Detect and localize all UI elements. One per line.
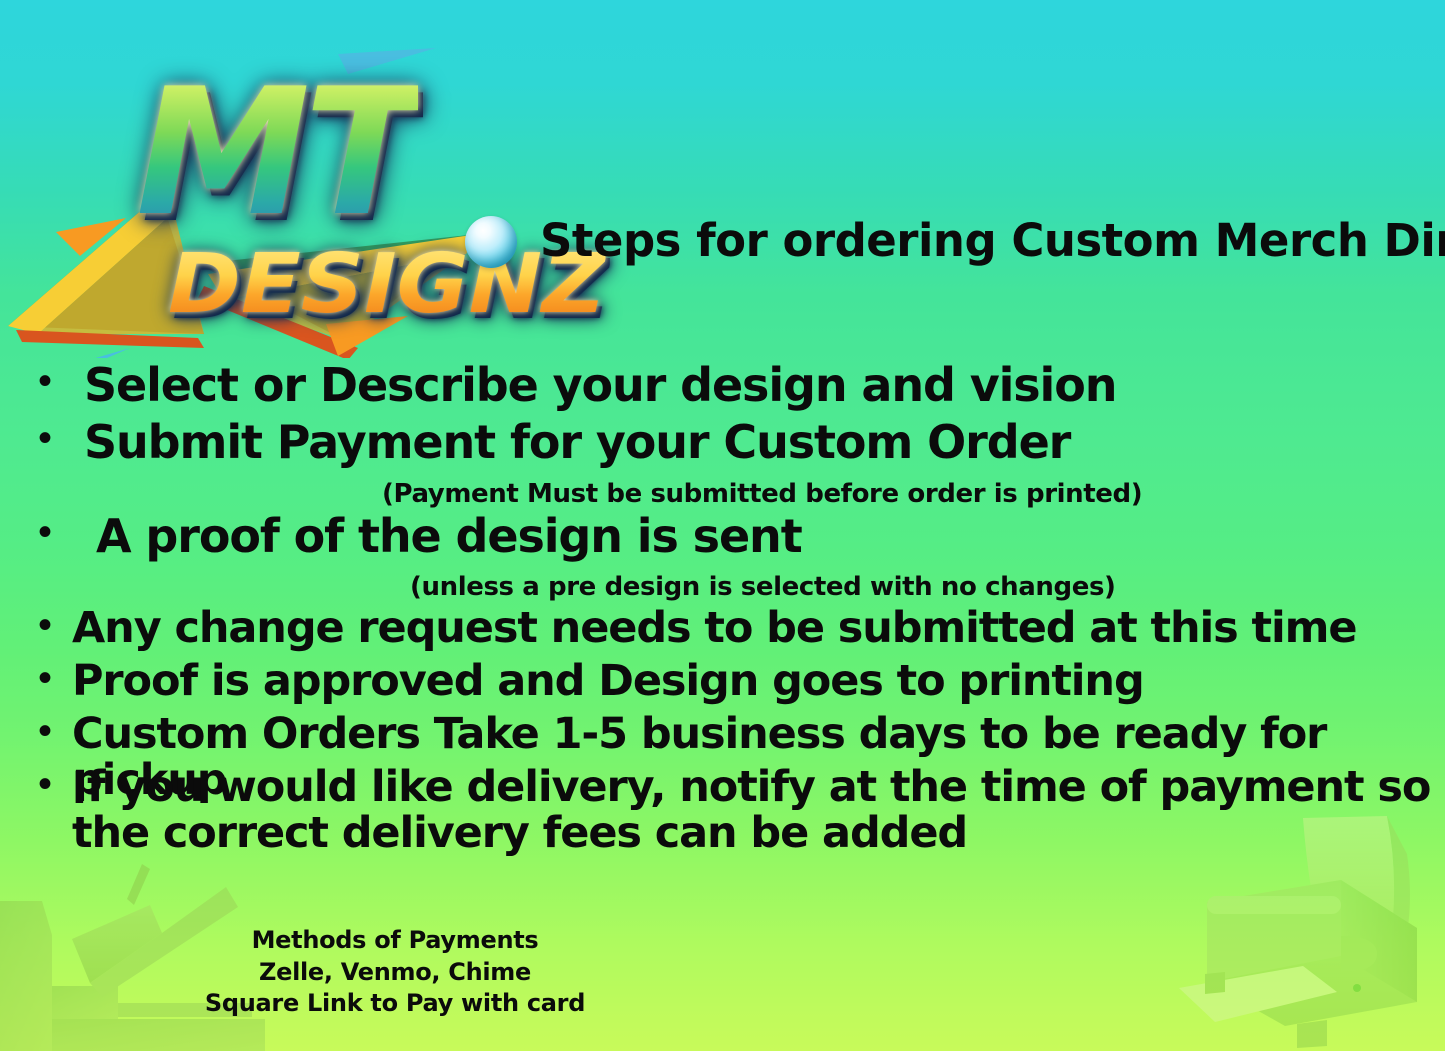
- bullet-icon: •: [28, 711, 62, 751]
- step-5-text: Proof is approved and Design goes to pri…: [72, 658, 1144, 704]
- list-item: • Select or Describe your design and vis…: [28, 361, 1116, 411]
- pearl-bubble-icon: [465, 216, 517, 268]
- list-item: • Any change request needs to be submitt…: [28, 605, 1356, 651]
- mt-designz-logo: MT DESIGNZ: [8, 48, 533, 358]
- poster-canvas: MT DESIGNZ Steps for ordering Custom Mer…: [0, 0, 1445, 1051]
- payment-methods-title: Methods of Payments: [0, 925, 1445, 957]
- list-item: • Submit Payment for your Custom Order: [28, 418, 1070, 468]
- bullet-icon: •: [28, 512, 62, 552]
- bullet-icon: •: [28, 605, 62, 645]
- bullet-icon: •: [28, 658, 62, 698]
- bullet-icon: •: [28, 764, 62, 804]
- step-4-text: Any change request needs to be submitted…: [72, 605, 1356, 651]
- bullet-icon: •: [28, 361, 62, 401]
- step-2-text: Submit Payment for your Custom Order: [84, 418, 1070, 468]
- bullet-icon: •: [28, 418, 62, 458]
- payment-methods-line-1: Zelle, Venmo, Chime: [0, 957, 1445, 989]
- step-1-text: Select or Describe your design and visio…: [84, 361, 1116, 411]
- page-title: Steps for ordering Custom Merch Directly: [540, 214, 1445, 267]
- note-payment: (Payment Must be submitted before order …: [382, 479, 1142, 509]
- logo-primary-text: MT: [136, 66, 418, 241]
- step-7-text: If you would like delivery, notify at th…: [72, 764, 1445, 857]
- list-item: • If you would like delivery, notify at …: [28, 764, 1445, 857]
- step-3-text: A proof of the design is sent: [96, 512, 802, 562]
- list-item: • Proof is approved and Design goes to p…: [28, 658, 1144, 704]
- note-proof: (unless a pre design is selected with no…: [410, 572, 1116, 602]
- list-item: • A proof of the design is sent: [28, 512, 802, 562]
- payment-methods-block: Methods of Payments Zelle, Venmo, Chime …: [0, 925, 1445, 1020]
- payment-methods-line-2: Square Link to Pay with card: [0, 988, 1445, 1020]
